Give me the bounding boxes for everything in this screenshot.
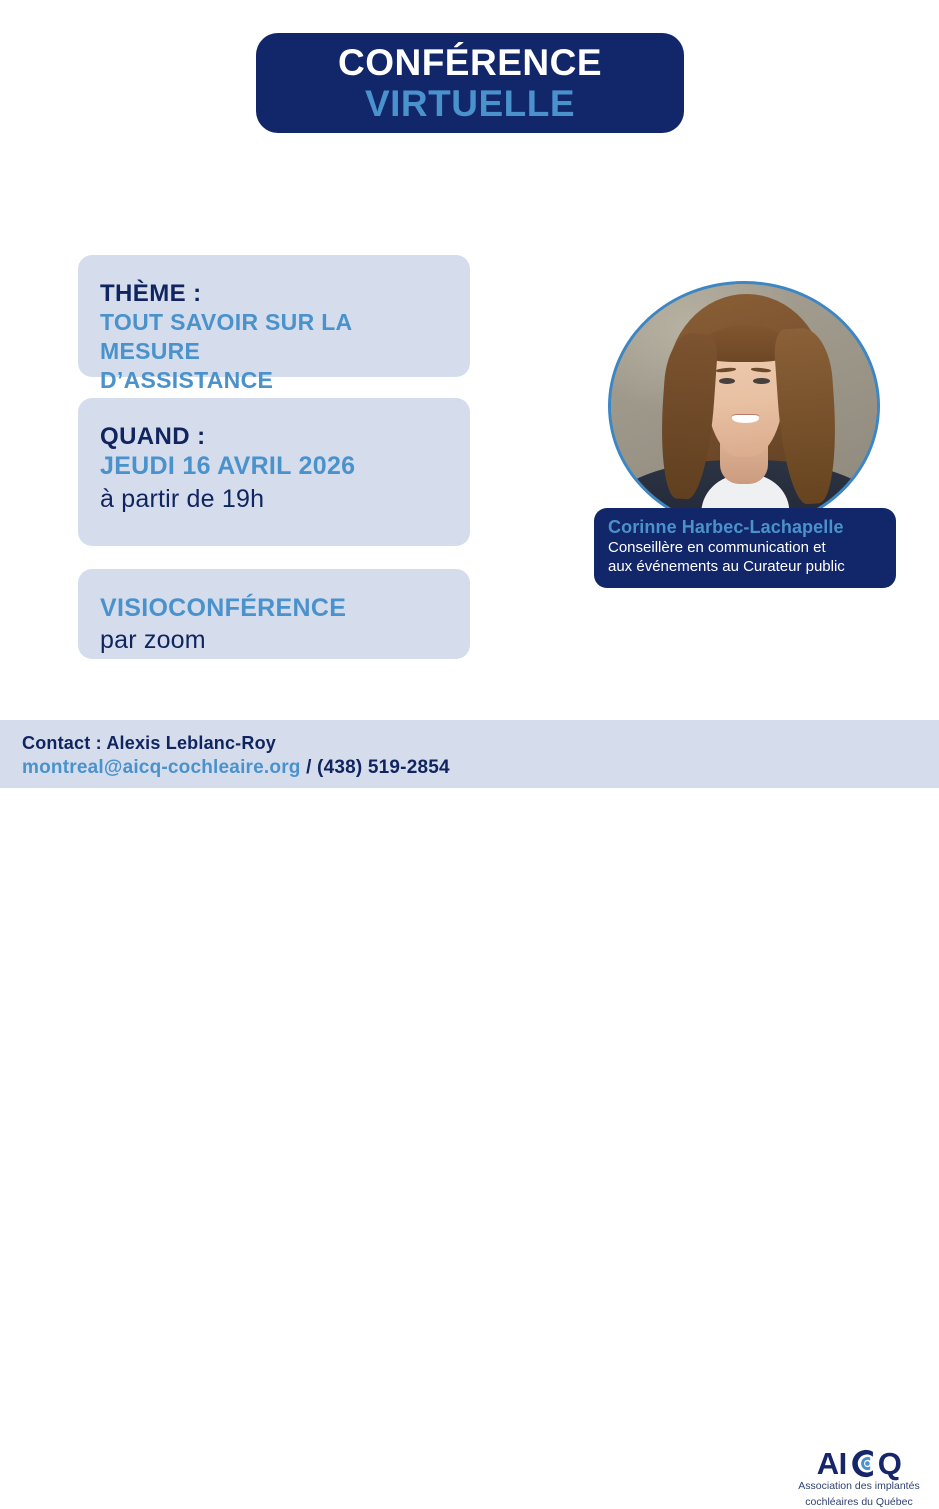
- logo-letters-after: Q: [878, 1448, 902, 1479]
- quand-time: à partir de 19h: [100, 483, 448, 516]
- logo-subtitle-line2: cochléaires du Québec: [783, 1496, 935, 1509]
- info-card-theme: THÈME : TOUT SAVOIR SUR LA MESURE D’ASSI…: [78, 255, 470, 377]
- footer-phone-number[interactable]: (438) 519-2854: [317, 757, 450, 778]
- speaker-name: Corinne Harbec-Lachapelle: [608, 517, 882, 538]
- quand-date: JEUDI 16 AVRIL 2026: [100, 451, 448, 482]
- conference-banner: CONFÉRENCE VIRTUELLE: [256, 33, 684, 133]
- logo-letters-before: AI: [817, 1448, 847, 1479]
- footer-email-link[interactable]: montreal@aicq-cochleaire.org: [22, 757, 301, 778]
- logo-subtitle-line1: Association des implantés: [783, 1480, 935, 1494]
- speaker-nameplate: Corinne Harbec-Lachapelle Conseillère en…: [594, 508, 896, 588]
- logo-mark: AI Q: [783, 1448, 935, 1478]
- footer-separator: /: [301, 757, 317, 778]
- speaker-role-line2: aux événements au Curateur public: [608, 558, 882, 576]
- quand-label: QUAND :: [100, 422, 448, 451]
- speaker-portrait-wrapper: [608, 281, 880, 531]
- visio-title: VISIOCONFÉRENCE: [100, 593, 448, 624]
- info-card-visioconference: VISIOCONFÉRENCE par zoom: [78, 569, 470, 659]
- banner-title-line2: VIRTUELLE: [365, 85, 575, 123]
- speaker-photo: [608, 281, 880, 531]
- footer-contact-block: Contact : Alexis Leblanc-Roy montreal@ai…: [22, 731, 450, 781]
- banner-title-line1: CONFÉRENCE: [338, 44, 602, 82]
- footer-bar: Contact : Alexis Leblanc-Roy montreal@ai…: [0, 720, 939, 788]
- theme-value-line2: D’ASSISTANCE: [100, 366, 448, 395]
- theme-label: THÈME :: [100, 279, 448, 308]
- visio-platform: par zoom: [100, 624, 448, 657]
- cochlea-spiral-icon: [848, 1449, 877, 1478]
- speaker-role-line1: Conseillère en communication et: [608, 539, 882, 557]
- aicq-logo: AI Q Association des implantés cochléair…: [783, 1448, 935, 1509]
- footer-contact-details: montreal@aicq-cochleaire.org / (438) 519…: [22, 755, 450, 781]
- info-card-quand: QUAND : JEUDI 16 AVRIL 2026 à partir de …: [78, 398, 470, 546]
- footer-contact-name: Contact : Alexis Leblanc-Roy: [22, 731, 450, 755]
- theme-value-line1: TOUT SAVOIR SUR LA MESURE: [100, 308, 448, 366]
